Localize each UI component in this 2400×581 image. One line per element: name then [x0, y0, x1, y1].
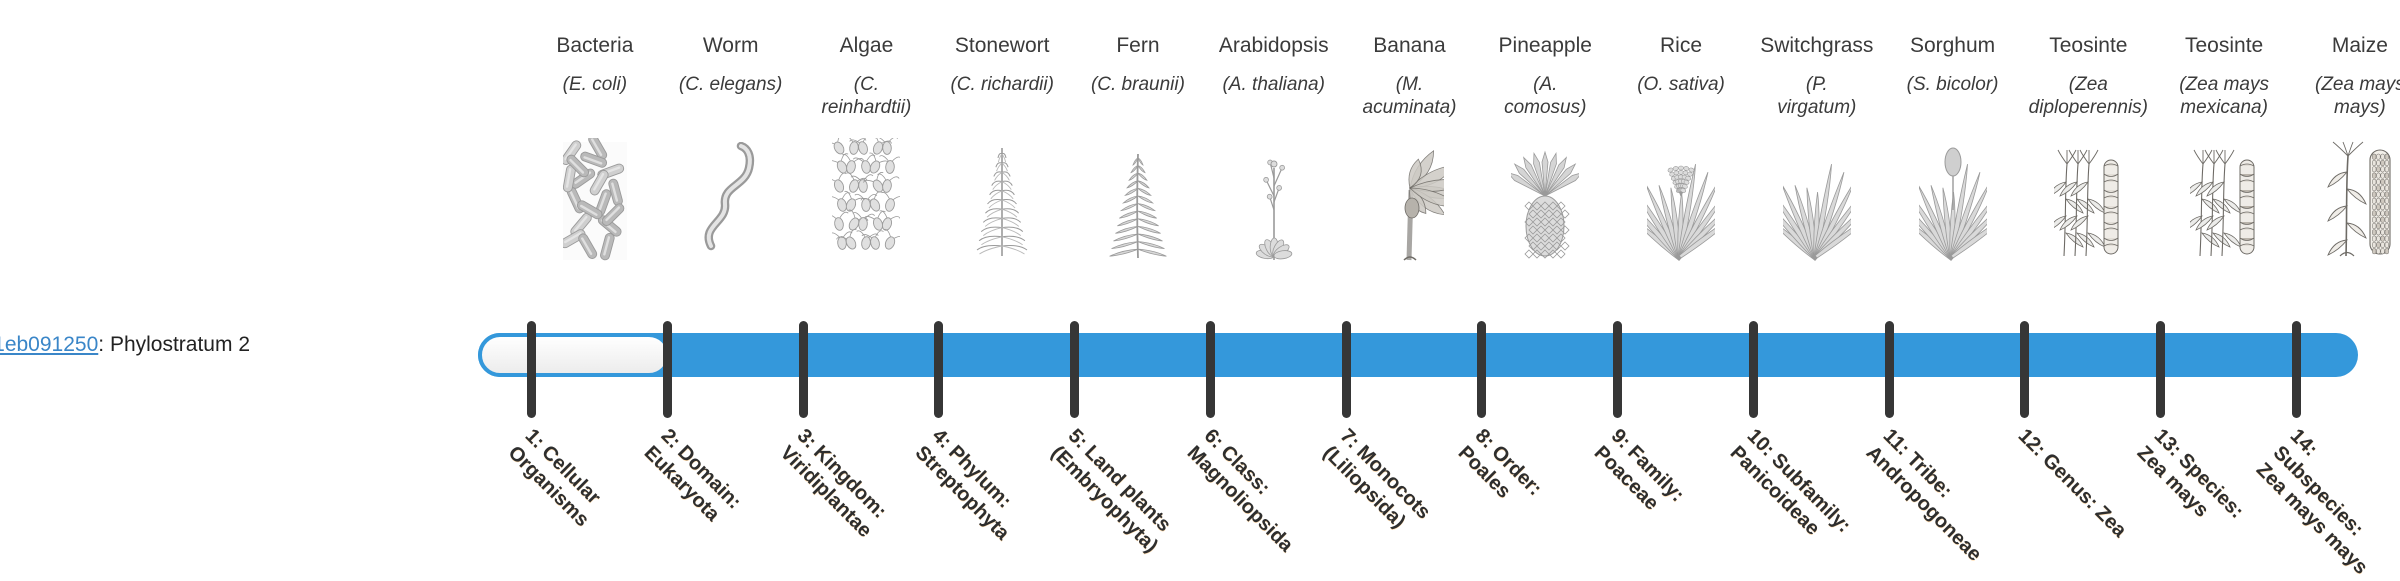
rank-label-6: 6: Class: Magnoliopsida [1182, 424, 1322, 564]
rank-label-12: 12: Genus: Zea [2013, 424, 2136, 547]
gene-phylostratum-label: Zm00001eb091250: Phylostratum 2 [0, 334, 250, 355]
stratum-tick-7[interactable] [1342, 321, 1351, 418]
rank-label-13: 13: Species: Zea mays [2132, 424, 2272, 564]
stratum-tick-9[interactable] [1613, 321, 1622, 418]
rice-icon [1631, 166, 1731, 262]
rank-name: Monocots (Liliopsida) [1318, 441, 1434, 532]
phylostratigraphy-track: Zm00001eb091250: Phylostratum 2 Bacteria… [0, 0, 2400, 580]
algae-icon [816, 166, 916, 262]
rank-name: Tribe: Andropogoneae [1861, 442, 1985, 566]
stratum-tick-8[interactable] [1477, 321, 1486, 418]
rank-label-7: 7: Monocots (Liliopsida) [1318, 424, 1458, 564]
bacteria-icon [545, 166, 645, 262]
stratum-tick-14[interactable] [2292, 321, 2301, 418]
stratum-tick-1[interactable] [527, 321, 536, 418]
scientific-name-line-2: reinhardtii) [786, 97, 946, 120]
switchgrass-icon [1767, 166, 1867, 262]
rank-name: Genus: Zea [2039, 449, 2132, 542]
stratum-tick-6[interactable] [1206, 321, 1215, 418]
scientific-name-line-1: (Zea mays [2280, 74, 2400, 97]
rank-name: Order: Poales [1454, 441, 1546, 503]
phylostratum-text: Phylostratum 2 [110, 333, 250, 356]
teosinte-mexicana-icon [2174, 166, 2274, 262]
fern-icon [1088, 166, 1188, 262]
species-scientific-name: (Zea maysmays) [2280, 74, 2400, 120]
rank-label-14: 14: Subspecies: Zea mays mays [2251, 424, 2400, 581]
pineapple-icon [1495, 166, 1595, 262]
gene-id-link[interactable]: Zm00001eb091250 [0, 333, 98, 356]
rank-label-1: 1: Cellular Organisms [503, 424, 643, 564]
rank-name: Class: Magnoliopsida [1183, 441, 1298, 556]
rank-name: Domain: Eukaryota [640, 441, 746, 525]
scientific-name-line-2: mays) [2280, 97, 2400, 120]
rank-name: Phylum: Streptophyta [911, 441, 1016, 544]
rank-label-10: 10: Subfamily: Panicoideae [1725, 424, 1865, 564]
rank-name: Cellular Organisms [504, 441, 605, 531]
rank-name: Kingdom: Viridiplantae [775, 441, 890, 542]
species-common-name: Maize [2280, 34, 2400, 58]
rank-label-11: 11: Tribe: Andropogoneae [1861, 424, 2001, 564]
species-column: Maize(Zea maysmays) [2280, 34, 2400, 120]
teosinte-diploperennis-icon [2038, 166, 2138, 262]
rank-label-5: 5: Land plants (Embryophyta) [1046, 424, 1186, 564]
rank-name: Land plants (Embryophyta) [1047, 441, 1175, 557]
rank-name: Subfamily: Panicoideae [1726, 442, 1855, 540]
arabidopsis-icon [1224, 166, 1324, 262]
stratum-tick-13[interactable] [2156, 321, 2165, 418]
rank-label-9: 9: Family: Poaceae [1589, 424, 1729, 564]
stonewort-icon [952, 166, 1052, 262]
rank-name: Species: Zea mays [2133, 442, 2248, 523]
rank-number: 12: [2014, 425, 2050, 461]
rank-label-2: 2: Domain: Eukaryota [639, 424, 779, 564]
maize-icon [2310, 166, 2400, 262]
worm-icon [681, 166, 781, 262]
rank-label-3: 3: Kingdom: Viridiplantae [775, 424, 915, 564]
stratum-tick-11[interactable] [1885, 321, 1894, 418]
stratum-tick-5[interactable] [1070, 321, 1079, 418]
sorghum-icon [1903, 166, 2003, 262]
rank-label-8: 8: Order: Poales [1453, 424, 1593, 564]
rank-name: Family: Poaceae [1590, 441, 1689, 514]
track-unfilled-segment [478, 333, 671, 377]
rank-label-4: 4: Phylum: Streptophyta [910, 424, 1050, 564]
rank-name: Subspecies: Zea mays mays [2252, 442, 2372, 579]
scientific-name-line-2: comosus) [1465, 97, 1625, 120]
stratum-tick-12[interactable] [2020, 321, 2029, 418]
stratum-tick-3[interactable] [799, 321, 808, 418]
scientific-name-line-2: virgatum) [1737, 97, 1897, 120]
stratum-tick-10[interactable] [1749, 321, 1758, 418]
label-separator: : [98, 333, 110, 356]
banana-icon [1360, 166, 1460, 262]
stratum-tick-2[interactable] [663, 321, 672, 418]
phylostratum-track-bar[interactable] [478, 333, 2358, 377]
stratum-tick-4[interactable] [934, 321, 943, 418]
